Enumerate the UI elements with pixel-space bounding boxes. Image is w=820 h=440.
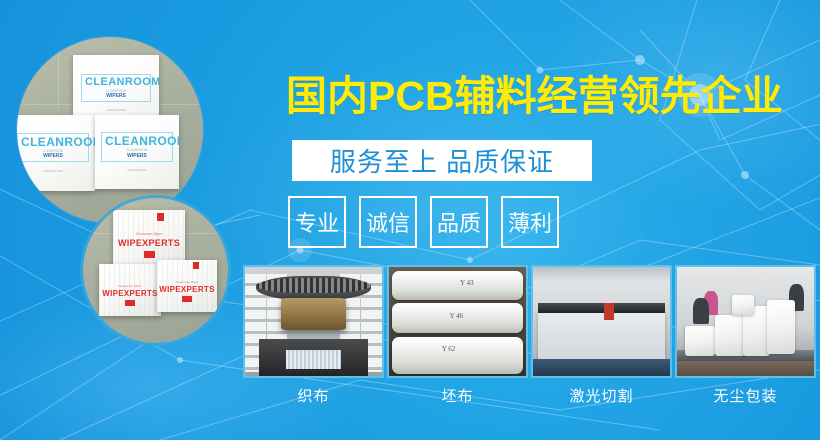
thumb-laser-cutting[interactable]: [531, 265, 672, 378]
laser-head: [604, 303, 614, 320]
stamp-icon: [144, 251, 155, 258]
floor-line: [58, 37, 59, 108]
process-thumbnail-list: 织布 Y 43 Y 46 Y 62 坯布: [243, 265, 816, 406]
feature-tag-professional[interactable]: 专业: [288, 196, 346, 248]
thumb-cell-greige-fabric[interactable]: Y 43 Y 46 Y 62 坯布: [387, 265, 528, 406]
machine-frame: [533, 359, 670, 376]
product-photo-cleanroom: CLEANROOM CLEANROOM WIPERS CLEANROOM CLE…: [17, 37, 203, 223]
stamp-icon: [182, 296, 192, 302]
thumb-caption: 无尘包装: [675, 385, 816, 406]
feature-tag-list: 专业 诚信 品质 薄利: [288, 196, 559, 248]
wipe-pack: CLEANROOM CLEANROOM WIPERS CLEANROOM: [17, 115, 95, 191]
promo-banner: CLEANROOM CLEANROOM WIPERS CLEANROOM CLE…: [0, 0, 820, 440]
thumb-cell-weaving[interactable]: 织布: [243, 265, 384, 406]
fabric-bale: [685, 326, 715, 357]
fabric-roll: Y 43: [392, 271, 524, 299]
fabric-bale: [732, 295, 754, 315]
fabric-bale: [715, 315, 745, 356]
cutting-bed: [538, 311, 664, 366]
product-photo-wipexperts: Cleanroom Wiper WIPEXPERTS Cleanroom Wip…: [83, 198, 228, 343]
thumb-caption: 坯布: [387, 385, 528, 406]
page-title: 国内PCB辅料经营领先企业: [286, 76, 783, 117]
worker: [693, 298, 708, 324]
thumb-caption: 激光切割: [531, 385, 672, 406]
stamp-icon: [125, 300, 135, 306]
thumb-cell-laser-cutting[interactable]: 激光切割: [531, 265, 672, 406]
floor: [677, 361, 814, 376]
thumb-caption: 织布: [243, 385, 384, 406]
stamp-icon: [193, 262, 199, 269]
thumb-greige-fabric[interactable]: Y 43 Y 46 Y 62: [387, 265, 528, 378]
wipe-pack: CLEANROOM CLEANROOM WIPERS CLEANROOM: [95, 115, 179, 189]
ceiling-panel: [533, 267, 670, 282]
feature-tag-low-margin[interactable]: 薄利: [501, 196, 559, 248]
wipe-bale: Cleanroom Wiper WIPEXPERTS: [99, 264, 161, 316]
thumb-cell-cleanroom-packing[interactable]: 无尘包装: [675, 265, 816, 406]
fabric-roll: Y 46: [392, 303, 524, 334]
subtitle-bar: 服务至上 品质保证: [292, 140, 592, 181]
knitting-ring-teeth: [256, 278, 371, 293]
feature-tag-integrity[interactable]: 诚信: [359, 196, 417, 248]
thumb-cleanroom-packing[interactable]: [675, 265, 816, 378]
laser-gantry: [538, 303, 664, 313]
fabric-output: [286, 350, 341, 370]
stamp-icon: [157, 213, 164, 221]
feature-tag-quality[interactable]: 品质: [430, 196, 488, 248]
machine-hub: [281, 298, 347, 331]
fabric-bale: [767, 300, 794, 355]
wipe-bale: Cleanroom Wiper WIPEXPERTS: [157, 260, 217, 312]
thumb-weaving[interactable]: [243, 265, 384, 378]
subtitle-text: 服务至上 品质保证: [330, 142, 554, 179]
fabric-roll: Y 62: [392, 337, 524, 374]
